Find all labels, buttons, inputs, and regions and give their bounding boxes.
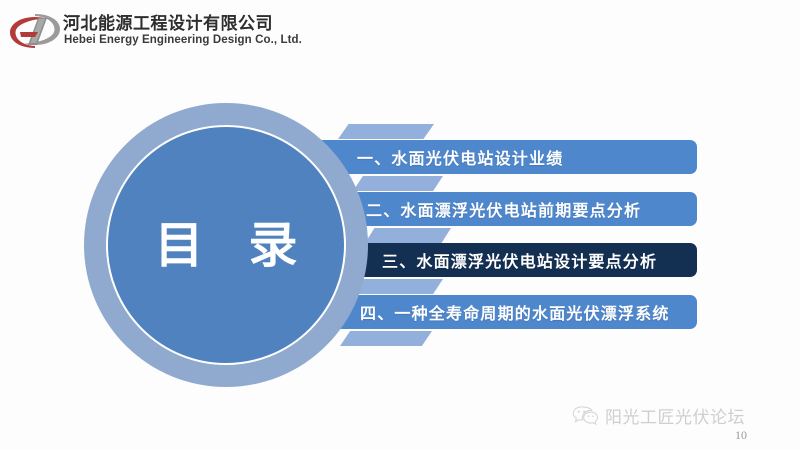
slide-canvas: 河北能源工程设计有限公司 Hebei Energy Engineering De… <box>0 0 800 450</box>
hebei-energy-logo-icon <box>8 10 62 52</box>
bar-accent-tab-1 <box>338 124 434 139</box>
toc-item-3[interactable]: 三、水面漂浮光伏电站设计要点分析 <box>352 243 697 277</box>
slide-header: 河北能源工程设计有限公司 Hebei Energy Engineering De… <box>0 0 800 62</box>
company-name-en: Hebei Energy Engineering Design Co., Ltd… <box>64 34 302 46</box>
toc-circle-label: 目 录 <box>140 221 311 270</box>
wechat-icon <box>572 405 598 427</box>
bar-accent-tab-5 <box>340 331 432 346</box>
bar-accent-tab-4 <box>353 279 443 294</box>
bar-accent-tab-3 <box>365 228 451 243</box>
page-number: 10 <box>735 428 747 443</box>
bar-accent-tab-2 <box>353 176 443 191</box>
toc-circle-inner: 目 录 <box>106 125 346 365</box>
toc-item-4[interactable]: 四、一种全寿命周期的水面光伏漂浮系统 <box>332 295 697 329</box>
toc-item-1[interactable]: 一、水面光伏电站设计业绩 <box>305 140 697 174</box>
toc-item-2[interactable]: 二、水面漂浮光伏电站前期要点分析 <box>332 192 697 226</box>
forum-watermark: 阳光工匠光伏论坛 <box>572 403 745 428</box>
watermark-text: 阳光工匠光伏论坛 <box>605 403 745 428</box>
company-name-cn: 河北能源工程设计有限公司 <box>63 9 273 34</box>
